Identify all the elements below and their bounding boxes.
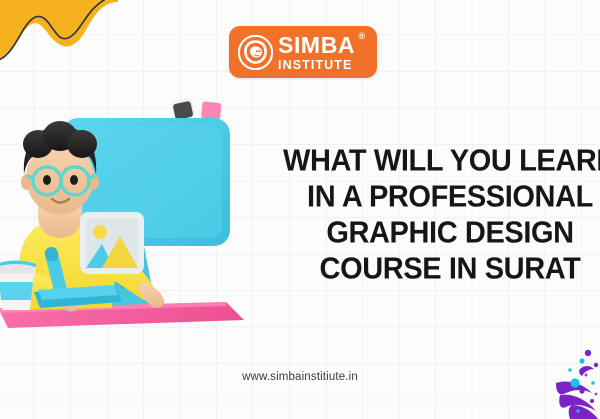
image-thumbnail-card (80, 212, 144, 274)
lion-head-icon (238, 35, 273, 70)
headline-line-3: GRAPHIC DESIGN (270, 214, 600, 252)
logo-sub-name: INSTITUTE (278, 59, 355, 72)
logo-brand-name: SIMBA (278, 34, 355, 57)
headline-line-1: WHAT WILL YOU LEARN (270, 142, 600, 180)
designer-at-desk-3d (0, 96, 262, 328)
yellow-wave-shape (0, 0, 118, 78)
headline-line-4: COURSE IN SURAT (270, 250, 600, 288)
coffee-cup (0, 261, 36, 311)
logo-wordmark: SIMBA INSTITUTE ® (278, 34, 355, 72)
page-title: WHAT WILL YOU LEARN IN A PROFESSIONAL GR… (270, 143, 600, 287)
blog-banner: SIMBA INSTITUTE ® (0, 0, 600, 419)
website-url[interactable]: www.simbainstitiute.in (0, 371, 600, 383)
simba-institute-logo[interactable]: SIMBA INSTITUTE ® (229, 26, 377, 78)
registered-mark-icon: ® (358, 32, 365, 41)
headline-line-2: IN A PROFESSIONAL (270, 178, 600, 216)
